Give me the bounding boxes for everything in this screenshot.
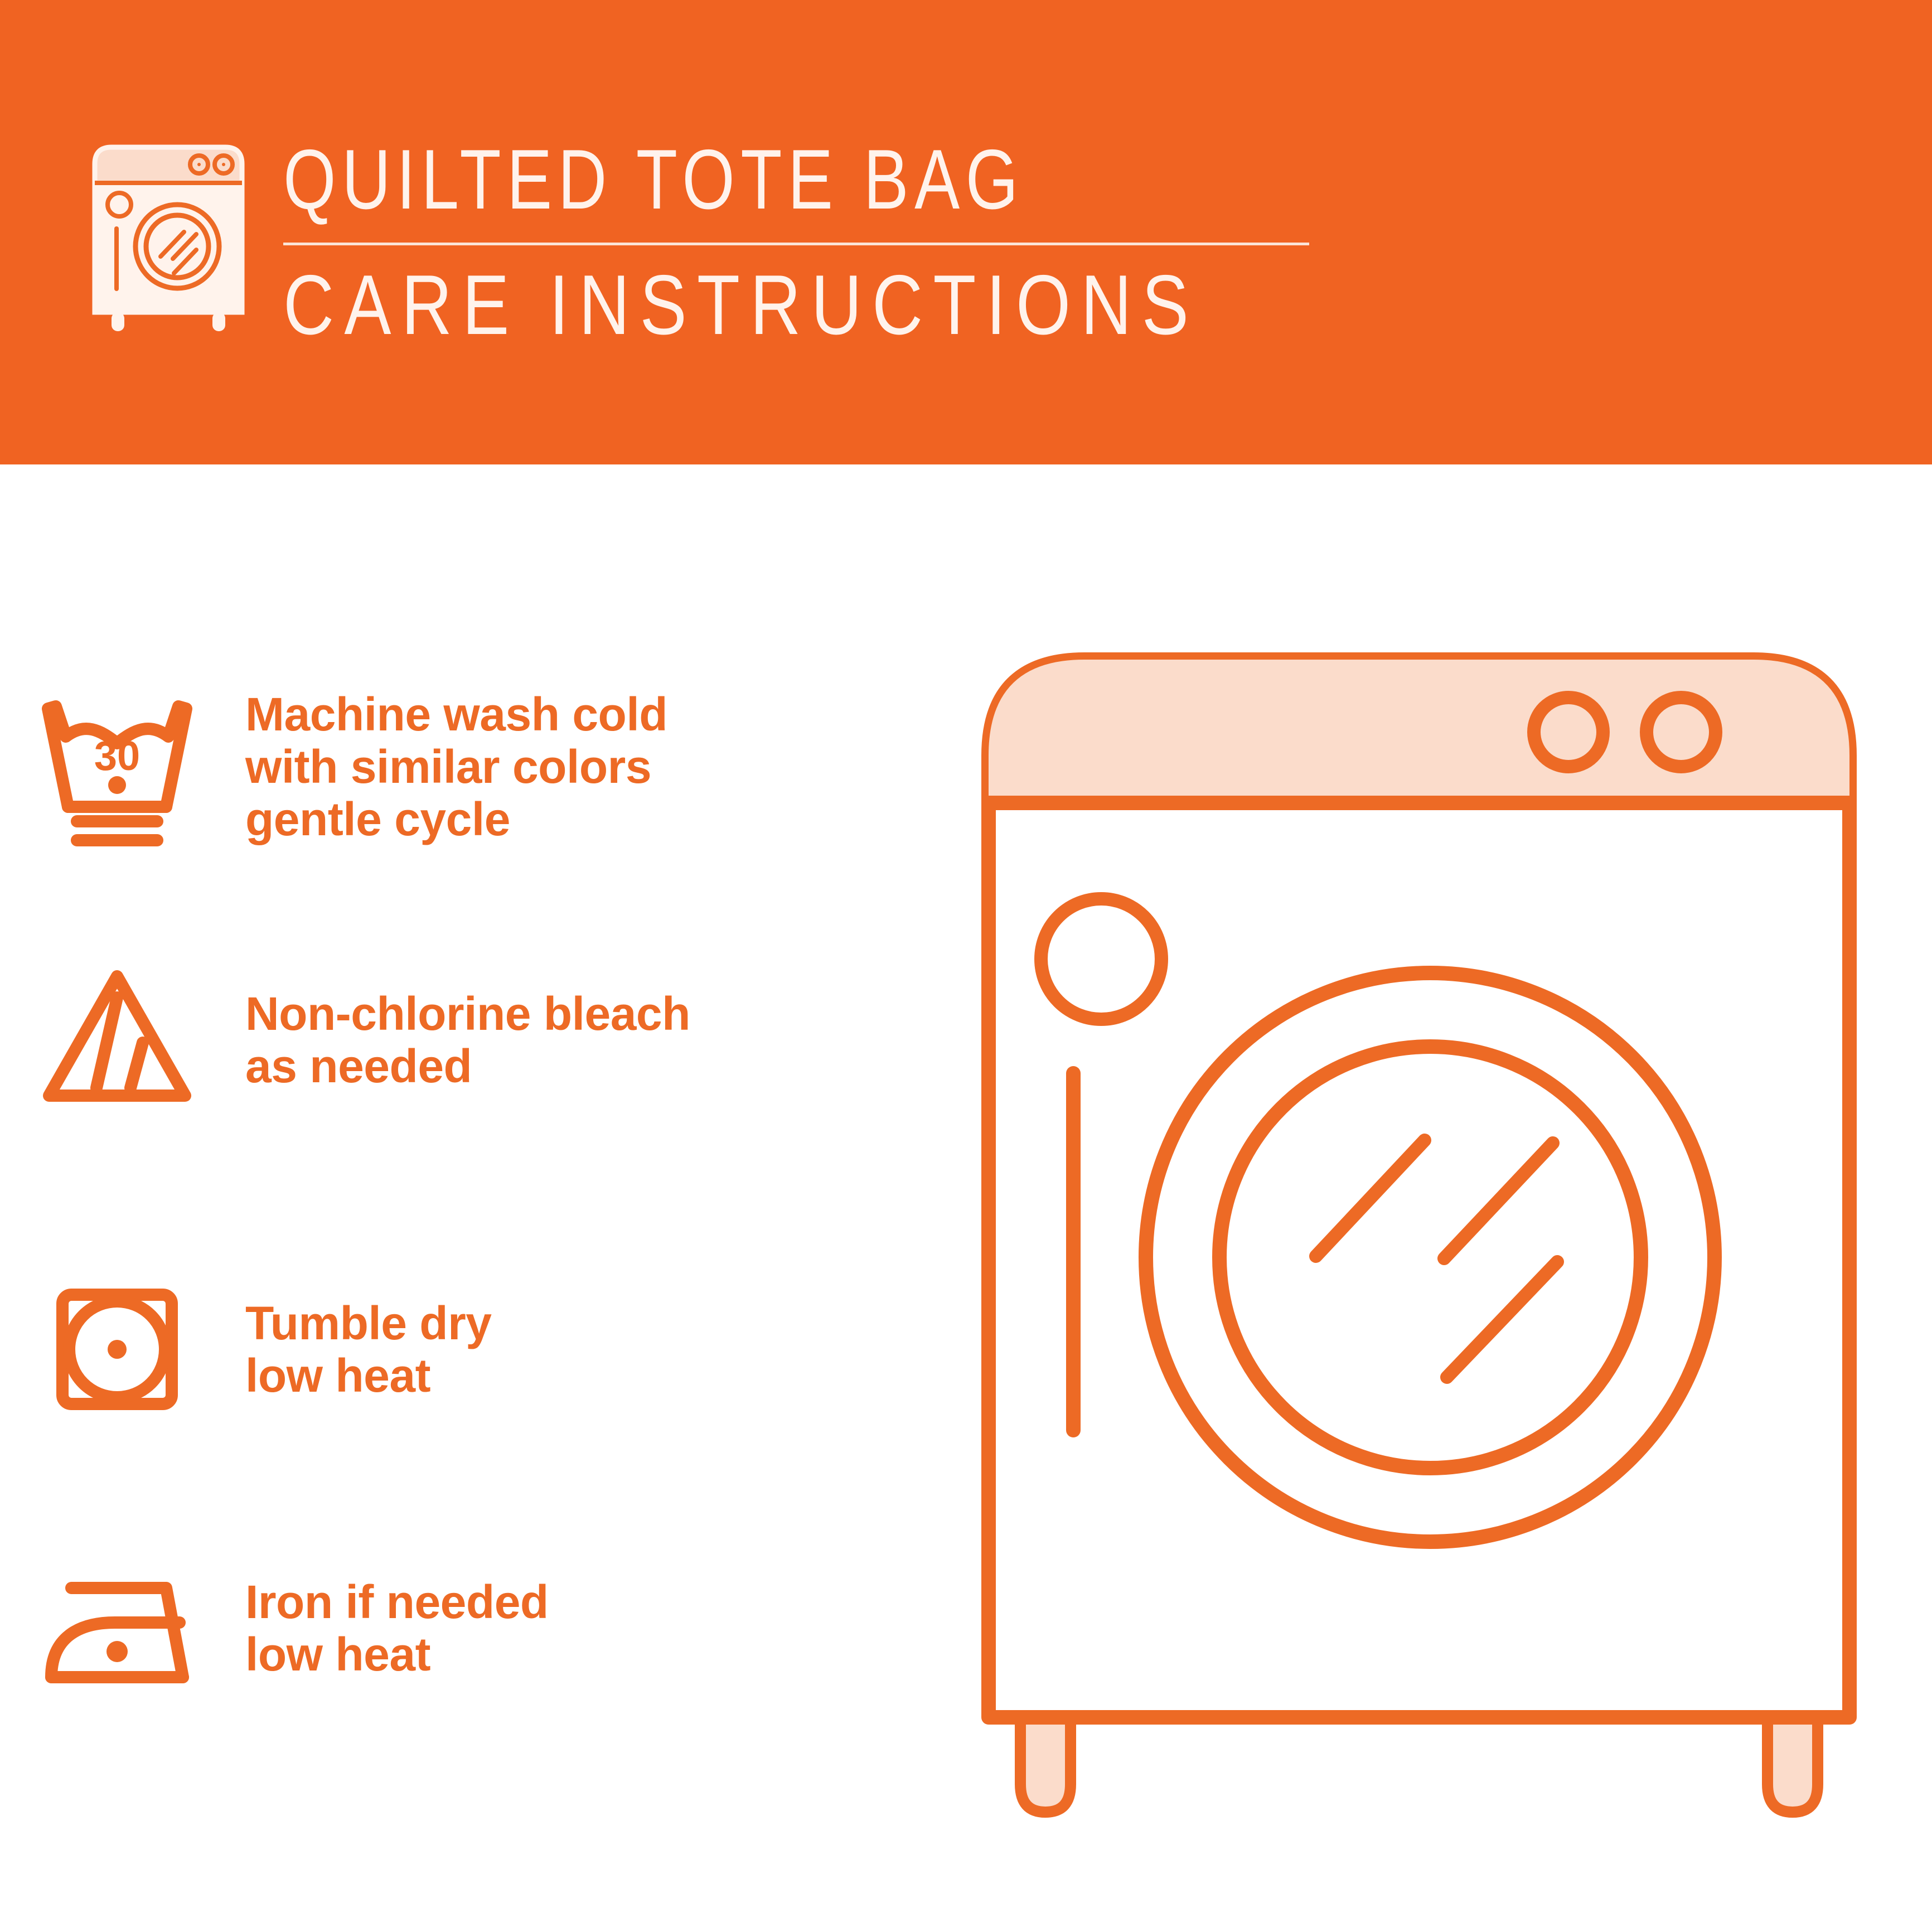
header-text-block: QUILTED TOTE BAG CARE INSTRUCTIONS xyxy=(283,129,1343,352)
tumble-dry-dot-icon xyxy=(108,1340,127,1359)
wash-temperature-label: 30 xyxy=(94,733,140,779)
knob-right xyxy=(1647,698,1716,767)
care-label-tumble-dry: Tumble dry low heat xyxy=(245,1297,926,1402)
knob-left xyxy=(1534,698,1603,767)
washer-body xyxy=(989,660,1849,1717)
care-row-tumble-dry: Tumble dry low heat xyxy=(0,1232,926,1466)
care-label-machine-wash: Machine wash cold with similar colors ge… xyxy=(245,688,926,845)
leg-right xyxy=(1768,1717,1818,1812)
iron-icon xyxy=(0,1544,234,1712)
washing-machine-icon xyxy=(85,139,252,332)
care-label-bleach: Non-chlorine bleach as needed xyxy=(245,987,926,1092)
bleach-triangle-icon xyxy=(0,956,234,1124)
care-row-iron: Iron if needed low heat xyxy=(0,1511,926,1745)
page-subtitle: CARE INSTRUCTIONS xyxy=(283,258,1163,352)
washing-machine-illustration xyxy=(967,638,1871,1837)
leg-left xyxy=(1020,1717,1071,1812)
care-label-iron: Iron if needed low heat xyxy=(245,1576,926,1681)
iron-dot-icon xyxy=(106,1641,128,1662)
header-divider xyxy=(283,243,1309,245)
wash-tub-30-icon: 30 xyxy=(0,683,234,850)
care-row-machine-wash: 30 Machine wash cold with similar colors… xyxy=(0,641,926,892)
header-band: QUILTED TOTE BAG CARE INSTRUCTIONS xyxy=(0,0,1932,464)
page-title: QUILTED TOTE BAG xyxy=(283,129,1131,230)
header-content: QUILTED TOTE BAG CARE INSTRUCTIONS xyxy=(0,0,1932,464)
care-row-bleach: Non-chlorine bleach as needed xyxy=(0,914,926,1165)
tumble-dry-icon xyxy=(0,1266,234,1433)
wash-dot-icon xyxy=(108,776,126,794)
